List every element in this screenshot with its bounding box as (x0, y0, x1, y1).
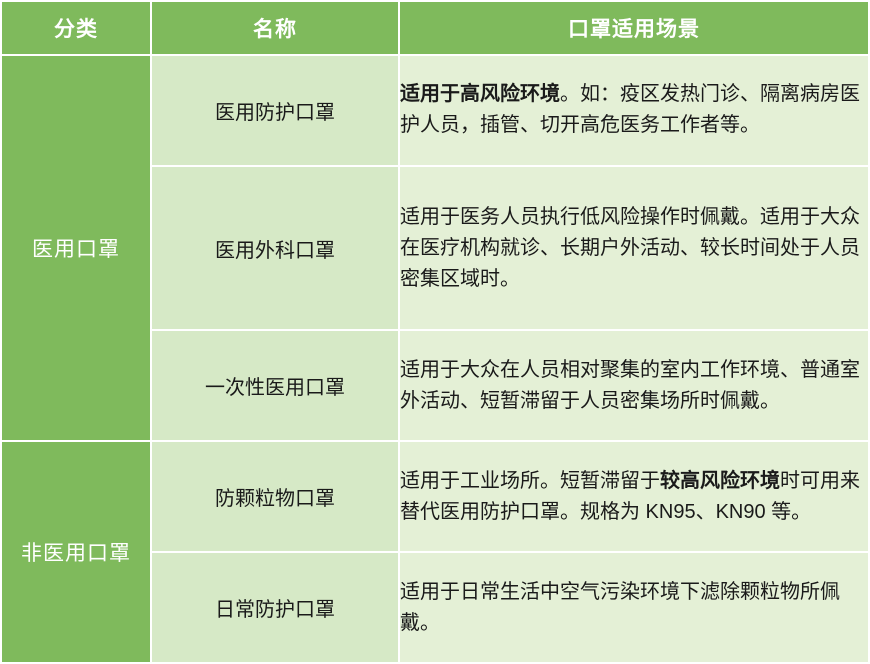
table-row: 非医用口罩 防颗粒物口罩 适用于工业场所。短暂滞留于较高风险环境时可用来替代医用… (1, 441, 869, 552)
table-header: 分类 名称 口罩适用场景 (1, 1, 869, 55)
name-cell-particulate: 防颗粒物口罩 (151, 441, 399, 552)
header-name: 名称 (151, 1, 399, 55)
scene-cell-disposable: 适用于大众在人员相对聚集的室内工作环境、普通室外活动、短暂滞留于人员密集场所时佩… (399, 330, 869, 441)
scene-cell-particulate: 适用于工业场所。短暂滞留于较高风险环境时可用来替代医用防护口罩。规格为 KN95… (399, 441, 869, 552)
table-row: 医用口罩 医用防护口罩 适用于高风险环境。如：疫区发热门诊、隔离病房医护人员，插… (1, 55, 869, 166)
scene-cell-daily: 适用于日常生活中空气污染环境下滤除颗粒物所佩戴。 (399, 552, 869, 663)
table-header-row: 分类 名称 口罩适用场景 (1, 1, 869, 55)
header-scene: 口罩适用场景 (399, 1, 869, 55)
scene-prefix-text: 适用于工业场所。短暂滞留于 (400, 470, 660, 492)
scene-text: 适用于大众在人员相对聚集的室内工作环境、普通室外活动、短暂滞留于人员密集场所时佩… (400, 359, 860, 412)
mask-usage-table-container: 分类 名称 口罩适用场景 医用口罩 医用防护口罩 适用于高风险环境。如：疫区发热… (0, 0, 870, 664)
category-cell-nonmedical: 非医用口罩 (1, 441, 151, 663)
table-body: 医用口罩 医用防护口罩 适用于高风险环境。如：疫区发热门诊、隔离病房医护人员，插… (1, 55, 869, 663)
scene-cell-surgical: 适用于医务人员执行低风险操作时佩戴。适用于大众在医疗机构就诊、长期户外活动、较长… (399, 166, 869, 331)
name-cell-daily: 日常防护口罩 (151, 552, 399, 663)
scene-bold-text: 较高风险环境 (660, 470, 780, 492)
name-cell-surgical: 医用外科口罩 (151, 166, 399, 331)
scene-text: 适用于医务人员执行低风险操作时佩戴。适用于大众在医疗机构就诊、长期户外活动、较长… (400, 206, 860, 290)
mask-usage-table: 分类 名称 口罩适用场景 医用口罩 医用防护口罩 适用于高风险环境。如：疫区发热… (0, 0, 870, 664)
category-cell-medical: 医用口罩 (1, 55, 151, 441)
name-cell-disposable: 一次性医用口罩 (151, 330, 399, 441)
scene-cell-medical-protective: 适用于高风险环境。如：疫区发热门诊、隔离病房医护人员，插管、切开高危医务工作者等… (399, 55, 869, 166)
scene-bold-text: 适用于高风险环境 (400, 83, 560, 105)
name-cell-medical-protective: 医用防护口罩 (151, 55, 399, 166)
scene-text: 适用于日常生活中空气污染环境下滤除颗粒物所佩戴。 (400, 581, 840, 634)
header-category: 分类 (1, 1, 151, 55)
